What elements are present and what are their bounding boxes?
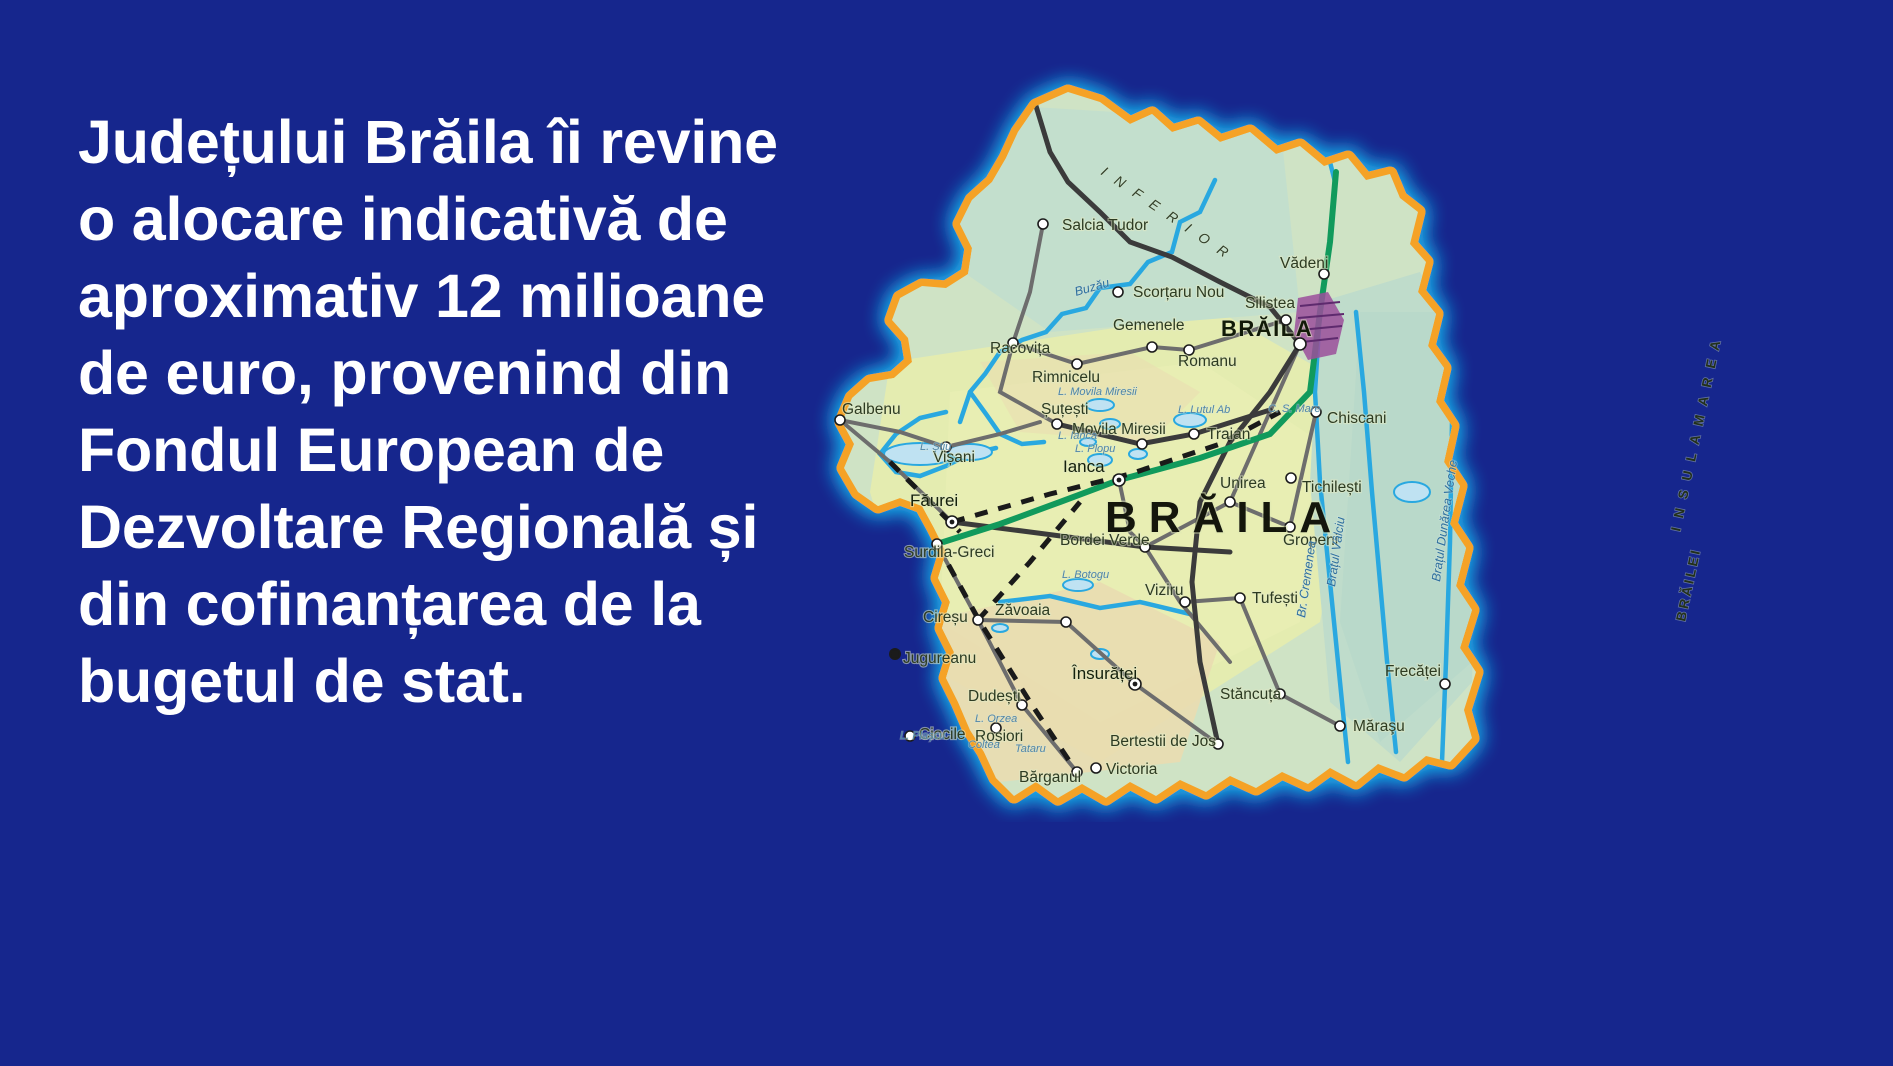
map-interior — [800, 62, 1880, 822]
lake-label: C. S. Mare — [1268, 403, 1321, 415]
locality-marker — [1061, 617, 1071, 627]
locality-label: Jugureanu — [903, 650, 976, 667]
locality-label: Scorțaru Nou — [1133, 284, 1224, 301]
locality-marker — [1091, 763, 1101, 773]
lake-label: Tataru — [1015, 743, 1046, 755]
locality-label: Șuțești — [1041, 401, 1088, 418]
locality-label: Bărganul — [1019, 769, 1081, 786]
locality-label: Ianca — [1063, 457, 1105, 476]
locality-label: Bertestii de Jos — [1110, 733, 1216, 750]
locality-marker — [1072, 359, 1082, 369]
locality-label: Traian — [1207, 426, 1250, 443]
body-line: bugetul de stat. — [78, 643, 818, 720]
locality-label: Tufești — [1252, 590, 1298, 607]
locality-label: Surdila-Greci — [904, 544, 994, 561]
locality-label: Salcia Tudor — [1062, 217, 1148, 234]
braila-county-map: Salcia TudorScorțaru NouGemeneleRacovița… — [800, 62, 1880, 822]
locality-marker — [973, 615, 983, 625]
body-line: Fondul European de — [78, 412, 818, 489]
body-line: Dezvoltare Regională și — [78, 489, 818, 566]
locality-label: Frecăței — [1385, 663, 1441, 680]
body-line: o alocare indicativă de — [78, 181, 818, 258]
locality-label: Stăncuța — [1220, 686, 1282, 703]
locality-marker — [1440, 679, 1450, 689]
locality-label: Gemenele — [1113, 317, 1185, 334]
locality-label: Viziru — [1145, 582, 1183, 599]
locality-label: BRĂILA — [1221, 316, 1313, 341]
lake-label: L. Ianca — [1058, 430, 1097, 442]
town-marker-core — [1117, 478, 1122, 483]
map-svg: Salcia TudorScorțaru NouGemeneleRacovița… — [800, 62, 1880, 822]
lake-label: L. Movila Miresii — [1058, 386, 1137, 398]
lake-label: L. Lutul Ab — [1178, 404, 1230, 416]
body-line: de euro, provenind din — [78, 335, 818, 412]
town-marker-core — [950, 520, 955, 525]
slide-body-text: Județului Brăila îi revine o alocare ind… — [78, 104, 818, 720]
slide-root: Județului Brăila îi revine o alocare ind… — [0, 0, 1893, 1066]
locality-marker — [1286, 473, 1296, 483]
island-label: I N S U L A M A R E A — [1668, 336, 1724, 532]
locality-label: Rimnicelu — [1032, 369, 1100, 386]
body-line: din cofinanțarea de la — [78, 566, 818, 643]
locality-label: Racovița — [990, 340, 1051, 357]
lake-label: L. Știu — [920, 441, 951, 453]
lake-label: Coltea — [968, 739, 1000, 751]
body-line: aproximativ 12 milioane — [78, 258, 818, 335]
locality-label: Chiscani — [1327, 410, 1386, 427]
locality-label: Însurăței — [1071, 664, 1137, 683]
lake-label: L. Botogu — [1062, 569, 1109, 581]
locality-marker — [1335, 721, 1345, 731]
locality-marker — [1113, 287, 1123, 297]
locality-label: Zăvoaia — [995, 602, 1051, 619]
locality-label: Unirea — [1220, 475, 1266, 492]
county-name-label: BRĂILA — [1105, 492, 1343, 542]
locality-label: Dudești — [968, 688, 1021, 705]
locality-marker — [1052, 419, 1062, 429]
locality-marker — [1281, 315, 1291, 325]
locality-marker — [890, 649, 900, 659]
island-label: BRĂILEI — [1673, 546, 1703, 622]
locality-marker — [1038, 219, 1048, 229]
locality-label: Silistea — [1245, 295, 1295, 312]
locality-marker — [1137, 439, 1147, 449]
locality-label: Romanu — [1178, 353, 1237, 370]
locality-marker — [1147, 342, 1157, 352]
locality-label: Făurei — [910, 491, 958, 510]
locality-marker — [1235, 593, 1245, 603]
lake-label: L. Plașcu — [900, 730, 945, 742]
locality-label: Cireșu — [923, 609, 968, 626]
locality-marker — [1189, 429, 1199, 439]
lake-label: L. Orzea — [975, 713, 1017, 725]
locality-label: Victoria — [1106, 761, 1158, 778]
locality-label: Măraşu — [1353, 718, 1405, 735]
locality-label: Galbenu — [842, 401, 901, 418]
locality-label: Vădeni — [1280, 255, 1328, 272]
body-line: Județului Brăila îi revine — [78, 104, 818, 181]
lake-label: L. Plopu — [1075, 443, 1115, 455]
